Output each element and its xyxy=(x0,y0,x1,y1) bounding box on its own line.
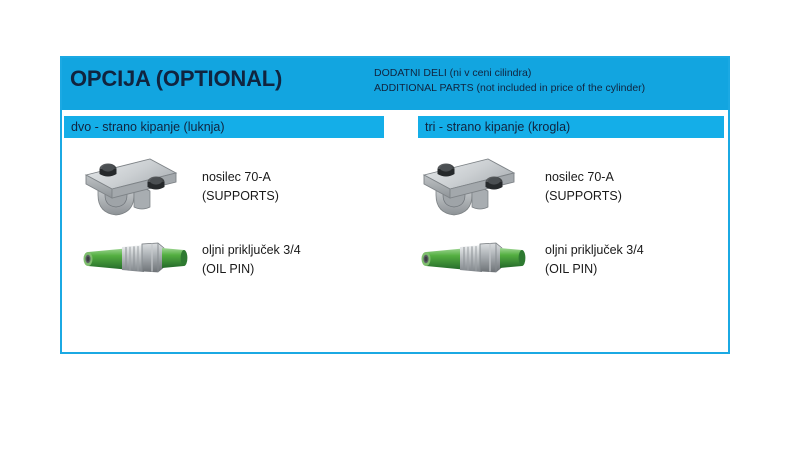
column-three-way-tipping: nosilec 70-A (SUPPORTS) xyxy=(395,150,728,296)
support-caption: nosilec 70-A (SUPPORTS) xyxy=(545,168,622,207)
oil-pin-coupling-icon xyxy=(72,236,192,284)
support-name-sl: nosilec 70-A xyxy=(202,168,279,187)
screenshot-root: OPCIJA (OPTIONAL) DODATNI DELI (ni v cen… xyxy=(0,0,800,450)
support-name-en: (SUPPORTS) xyxy=(202,187,279,206)
oil-pin-name-en: (OIL PIN) xyxy=(202,260,301,279)
oil-pin-coupling-icon xyxy=(410,236,530,284)
oil-pin-caption: oljni priključek 3/4 (OIL PIN) xyxy=(545,241,644,280)
header-notes: DODATNI DELI (ni v ceni cilindra) ADDITI… xyxy=(374,66,645,96)
support-bracket-figure xyxy=(395,153,545,221)
oil-pin-figure xyxy=(62,236,202,284)
support-name-en: (SUPPORTS) xyxy=(545,187,622,206)
column-two-way-tipping: nosilec 70-A (SUPPORTS) xyxy=(62,150,395,296)
support-name-sl: nosilec 70-A xyxy=(545,168,622,187)
support-caption: nosilec 70-A (SUPPORTS) xyxy=(202,168,279,207)
oil-pin-caption: oljni priključek 3/4 (OIL PIN) xyxy=(202,241,301,280)
section-bar-two-way-tipping: dvo - strano kipanje (luknja) xyxy=(64,116,384,138)
header-note-english: ADDITIONAL PARTS (not included in price … xyxy=(374,81,645,96)
page-title: OPCIJA (OPTIONAL) xyxy=(70,66,282,92)
support-bracket-icon xyxy=(72,153,192,221)
oil-pin-name-sl: oljni priključek 3/4 xyxy=(545,241,644,260)
header-note-slovene: DODATNI DELI (ni v ceni cilindra) xyxy=(374,66,645,81)
product-row: nosilec 70-A (SUPPORTS) xyxy=(62,150,395,224)
product-row: oljni priključek 3/4 (OIL PIN) xyxy=(62,224,395,296)
oil-pin-name-sl: oljni priključek 3/4 xyxy=(202,241,301,260)
product-row: oljni priključek 3/4 (OIL PIN) xyxy=(395,224,728,296)
optional-parts-card: OPCIJA (OPTIONAL) DODATNI DELI (ni v cen… xyxy=(60,56,730,354)
product-row: nosilec 70-A (SUPPORTS) xyxy=(395,150,728,224)
section-bar-three-way-tipping: tri - strano kipanje (krogla) xyxy=(418,116,724,138)
oil-pin-name-en: (OIL PIN) xyxy=(545,260,644,279)
support-bracket-figure xyxy=(62,153,202,221)
support-bracket-icon xyxy=(410,153,530,221)
oil-pin-figure xyxy=(395,236,545,284)
section-title-bars: dvo - strano kipanje (luknja) tri - stra… xyxy=(62,116,728,138)
parts-columns: nosilec 70-A (SUPPORTS) xyxy=(62,138,728,296)
card-header-band: OPCIJA (OPTIONAL) DODATNI DELI (ni v cen… xyxy=(62,58,728,110)
